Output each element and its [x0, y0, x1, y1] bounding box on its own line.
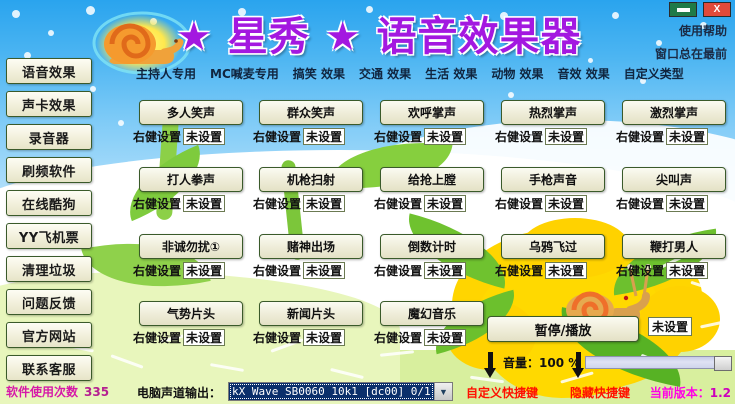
- hotkey-row-2-4: 右健设置未设置: [616, 262, 734, 279]
- output-device-select[interactable]: kX Wave SB0060 10k1 [dc00] 0/1 ▼: [228, 382, 453, 401]
- sound-cell-2-0: 非诚勿扰①右健设置未设置: [131, 234, 251, 279]
- hotkey-row-3-2: 右健设置未设置: [374, 329, 492, 346]
- hotkey-hint-label: 右健设置: [495, 128, 543, 145]
- hotkey-box-3-2[interactable]: 未设置: [424, 329, 466, 346]
- sound-cell-0-1: 群众笑声右健设置未设置: [251, 100, 371, 145]
- sound-button-0-3[interactable]: 热烈掌声: [501, 100, 605, 125]
- sound-button-1-0[interactable]: 打人拳声: [139, 167, 243, 192]
- version-number: 1.2: [710, 386, 731, 400]
- sidebar-item-3[interactable]: 刷频软件: [6, 157, 92, 183]
- sound-cell-3-1: 新闻片头右健设置未设置: [251, 301, 371, 346]
- usage-counter-value: 335: [84, 385, 109, 399]
- hotkey-box-2-0[interactable]: 未设置: [183, 262, 225, 279]
- hotkey-hint-label: 右健设置: [616, 262, 664, 279]
- sound-cell-3-2: 魔幻音乐右健设置未设置: [372, 301, 492, 346]
- hotkey-box-2-4[interactable]: 未设置: [666, 262, 708, 279]
- hotkey-box-1-1[interactable]: 未设置: [303, 195, 345, 212]
- hotkey-hint-label: 右健设置: [374, 128, 422, 145]
- hotkey-hint-label: 右健设置: [253, 195, 301, 212]
- background-dot: [48, 30, 54, 36]
- sound-button-2-2[interactable]: 倒数计时: [380, 234, 484, 259]
- hotkey-row-0-3: 右健设置未设置: [495, 128, 613, 145]
- hide-hotkey-link[interactable]: 隐藏快捷键: [570, 384, 630, 401]
- hotkey-hint-label: 右健设置: [374, 329, 422, 346]
- tab-3[interactable]: 交通 效果: [359, 65, 411, 82]
- page-title: ★ 星秀 ★ 语音效果器: [176, 4, 582, 62]
- sound-cell-3-0: 气势片头右健设置未设置: [131, 301, 251, 346]
- sidebar-item-4[interactable]: 在线酷狗: [6, 190, 92, 216]
- sound-cell-2-1: 赌神出场右健设置未设置: [251, 234, 371, 279]
- sound-row-0: 多人笑声右健设置未设置群众笑声右健设置未设置欢呼掌声右健设置未设置热烈掌声右健设…: [131, 100, 735, 167]
- sidebar-item-7[interactable]: 问题反馈: [6, 289, 92, 315]
- sound-cell-2-3: 乌鸦飞过右健设置未设置: [493, 234, 613, 279]
- hotkey-box-1-3[interactable]: 未设置: [545, 195, 587, 212]
- play-pause-hotkey-box[interactable]: 未设置: [648, 317, 692, 336]
- always-on-top-link[interactable]: 窗口总在最前: [655, 45, 727, 62]
- hotkey-hint-label: 右健设置: [616, 128, 664, 145]
- volume-slider-thumb[interactable]: [714, 356, 732, 371]
- hotkey-box-3-1[interactable]: 未设置: [303, 329, 345, 346]
- background-dot: [612, 12, 619, 19]
- sound-button-2-3[interactable]: 乌鸦飞过: [501, 234, 605, 259]
- background-dot: [118, 120, 124, 126]
- hotkey-row-2-3: 右健设置未设置: [495, 262, 613, 279]
- sidebar-item-9[interactable]: 联系客服: [6, 355, 92, 381]
- minimize-button[interactable]: [669, 2, 697, 17]
- hotkey-box-0-3[interactable]: 未设置: [545, 128, 587, 145]
- sound-cell-0-0: 多人笑声右健设置未设置: [131, 100, 251, 145]
- hotkey-row-3-0: 右健设置未设置: [133, 329, 251, 346]
- sidebar: 语音效果声卡效果录音器刷频软件在线酷狗YY飞机票清理垃圾问题反馈官方网站联系客服: [6, 58, 92, 388]
- hotkey-row-1-2: 右健设置未设置: [374, 195, 492, 212]
- category-tabs: 主持人专用MC喊麦专用搞笑 效果交通 效果生活 效果动物 效果音效 效果自定义类…: [136, 64, 732, 82]
- tab-1[interactable]: MC喊麦专用: [210, 65, 279, 82]
- sound-cell-1-1: 机枪扫射右健设置未设置: [251, 167, 371, 212]
- sound-cell-2-4: 鞭打男人右健设置未设置: [614, 234, 734, 279]
- tab-7[interactable]: 自定义类型: [624, 65, 684, 82]
- hotkey-row-0-4: 右健设置未设置: [616, 128, 734, 145]
- sound-button-2-1[interactable]: 赌神出场: [259, 234, 363, 259]
- hotkey-box-2-3[interactable]: 未设置: [545, 262, 587, 279]
- hotkey-box-3-0[interactable]: 未设置: [183, 329, 225, 346]
- hotkey-row-1-1: 右健设置未设置: [253, 195, 371, 212]
- hotkey-hint-label: 右健设置: [253, 262, 301, 279]
- window-controls: X: [669, 2, 731, 17]
- hotkey-box-0-2[interactable]: 未设置: [424, 128, 466, 145]
- sound-button-0-2[interactable]: 欢呼掌声: [380, 100, 484, 125]
- hotkey-hint-label: 右健设置: [253, 329, 301, 346]
- hotkey-hint-label: 右健设置: [253, 128, 301, 145]
- sidebar-item-2[interactable]: 录音器: [6, 124, 92, 150]
- hotkey-row-0-0: 右健设置未设置: [133, 128, 251, 145]
- sound-cell-1-4: 尖叫声右健设置未设置: [614, 167, 734, 212]
- header-links: 使用帮助 窗口总在最前: [655, 22, 727, 68]
- chevron-down-icon[interactable]: ▼: [434, 383, 452, 400]
- hotkey-hint-label: 右健设置: [374, 262, 422, 279]
- hotkey-box-0-1[interactable]: 未设置: [303, 128, 345, 145]
- hotkey-row-1-3: 右健设置未设置: [495, 195, 613, 212]
- play-pause-button[interactable]: 暂停/播放: [487, 316, 639, 342]
- sound-cell-0-2: 欢呼掌声右健设置未设置: [372, 100, 492, 145]
- version-info: 当前版本：1.2: [650, 384, 731, 401]
- background-dot: [112, 44, 117, 49]
- sound-button-0-1[interactable]: 群众笑声: [259, 100, 363, 125]
- background-dot: [86, 6, 95, 15]
- app-window: X ★ 星秀 ★ 语音效果器 使用帮助 窗口总在最前 主持人专用MC喊麦专用搞笑…: [0, 0, 735, 404]
- hotkey-hint-label: 右健设置: [495, 262, 543, 279]
- hotkey-hint-label: 右健设置: [374, 195, 422, 212]
- hotkey-row-3-1: 右健设置未设置: [253, 329, 371, 346]
- sound-row-1: 打人拳声右健设置未设置机枪扫射右健设置未设置给抢上膛右健设置未设置手枪声音右健设…: [131, 167, 735, 234]
- hotkey-row-0-2: 右健设置未设置: [374, 128, 492, 145]
- background-dot: [150, 18, 157, 25]
- hotkey-hint-label: 右健设置: [616, 195, 664, 212]
- hotkey-hint-label: 右健设置: [133, 195, 181, 212]
- hotkey-box-1-2[interactable]: 未设置: [424, 195, 466, 212]
- sidebar-item-0[interactable]: 语音效果: [6, 58, 92, 84]
- sound-button-1-1[interactable]: 机枪扫射: [259, 167, 363, 192]
- hotkey-box-2-1[interactable]: 未设置: [303, 262, 345, 279]
- sound-button-2-0[interactable]: 非诚勿扰①: [139, 234, 243, 259]
- hotkey-row-1-4: 右健设置未设置: [616, 195, 734, 212]
- sound-button-0-0[interactable]: 多人笑声: [139, 100, 243, 125]
- tab-6[interactable]: 音效 效果: [558, 65, 610, 82]
- hotkey-hint-label: 右健设置: [495, 195, 543, 212]
- sound-button-3-0[interactable]: 气势片头: [139, 301, 243, 326]
- sound-button-1-3[interactable]: 手枪声音: [501, 167, 605, 192]
- hotkey-row-2-2: 右健设置未设置: [374, 262, 492, 279]
- sidebar-item-1[interactable]: 声卡效果: [6, 91, 92, 117]
- usage-counter: 软件使用次数335: [6, 383, 109, 400]
- sound-cell-1-0: 打人拳声右健设置未设置: [131, 167, 251, 212]
- hotkey-box-1-0[interactable]: 未设置: [183, 195, 225, 212]
- sound-button-3-2[interactable]: 魔幻音乐: [380, 301, 484, 326]
- sound-button-1-4[interactable]: 尖叫声: [622, 167, 726, 192]
- sound-button-2-4[interactable]: 鞭打男人: [622, 234, 726, 259]
- sidebar-item-5[interactable]: YY飞机票: [6, 223, 92, 249]
- tab-5[interactable]: 动物 效果: [491, 65, 543, 82]
- help-link[interactable]: 使用帮助: [655, 22, 727, 39]
- sound-button-3-1[interactable]: 新闻片头: [259, 301, 363, 326]
- volume-label: 音量：100 %: [503, 354, 580, 371]
- version-label: 当前版本：: [650, 386, 710, 400]
- hotkey-row-2-0: 右健设置未设置: [133, 262, 251, 279]
- sound-button-1-2[interactable]: 给抢上膛: [380, 167, 484, 192]
- tab-2[interactable]: 搞笑 效果: [293, 65, 345, 82]
- close-button[interactable]: X: [703, 2, 731, 17]
- output-device-label: 电脑声道输出：: [137, 384, 221, 401]
- output-device-value[interactable]: kX Wave SB0060 10k1 [dc00] 0/1: [229, 383, 434, 400]
- volume-slider[interactable]: [585, 356, 731, 369]
- tab-4[interactable]: 生活 效果: [425, 65, 477, 82]
- hotkey-row-2-1: 右健设置未设置: [253, 262, 371, 279]
- hotkey-hint-label: 右健设置: [133, 262, 181, 279]
- background-dot: [588, 58, 593, 63]
- background-dot: [12, 10, 20, 18]
- hotkey-box-1-4[interactable]: 未设置: [666, 195, 708, 212]
- sound-button-0-4[interactable]: 激烈掌声: [622, 100, 726, 125]
- hotkey-box-0-4[interactable]: 未设置: [666, 128, 708, 145]
- hotkey-hint-label: 右健设置: [133, 128, 181, 145]
- sound-row-2: 非诚勿扰①右健设置未设置赌神出场右健设置未设置倒数计时右健设置未设置乌鸦飞过右健…: [131, 234, 735, 301]
- sidebar-item-8[interactable]: 官方网站: [6, 322, 92, 348]
- sound-cell-0-4: 激烈掌声右健设置未设置: [614, 100, 734, 145]
- usage-counter-label: 软件使用次数: [6, 385, 78, 399]
- sound-cell-1-2: 给抢上膛右健设置未设置: [372, 167, 492, 212]
- sound-cell-1-3: 手枪声音右健设置未设置: [493, 167, 613, 212]
- tab-0[interactable]: 主持人专用: [136, 65, 196, 82]
- sound-cell-0-3: 热烈掌声右健设置未设置: [493, 100, 613, 145]
- hotkey-box-2-2[interactable]: 未设置: [424, 262, 466, 279]
- background-dot: [508, 92, 514, 98]
- hotkey-row-0-1: 右健设置未设置: [253, 128, 371, 145]
- hotkey-row-1-0: 右健设置未设置: [133, 195, 251, 212]
- background-grass-stroke: [330, 368, 364, 379]
- sound-button-grid: 多人笑声右健设置未设置群众笑声右健设置未设置欢呼掌声右健设置未设置热烈掌声右健设…: [131, 100, 735, 368]
- hotkey-hint-label: 右健设置: [133, 329, 181, 346]
- sidebar-item-6[interactable]: 清理垃圾: [6, 256, 92, 282]
- custom-hotkey-link[interactable]: 自定义快捷键: [466, 384, 538, 401]
- hotkey-box-0-0[interactable]: 未设置: [183, 128, 225, 145]
- sound-cell-2-2: 倒数计时右健设置未设置: [372, 234, 492, 279]
